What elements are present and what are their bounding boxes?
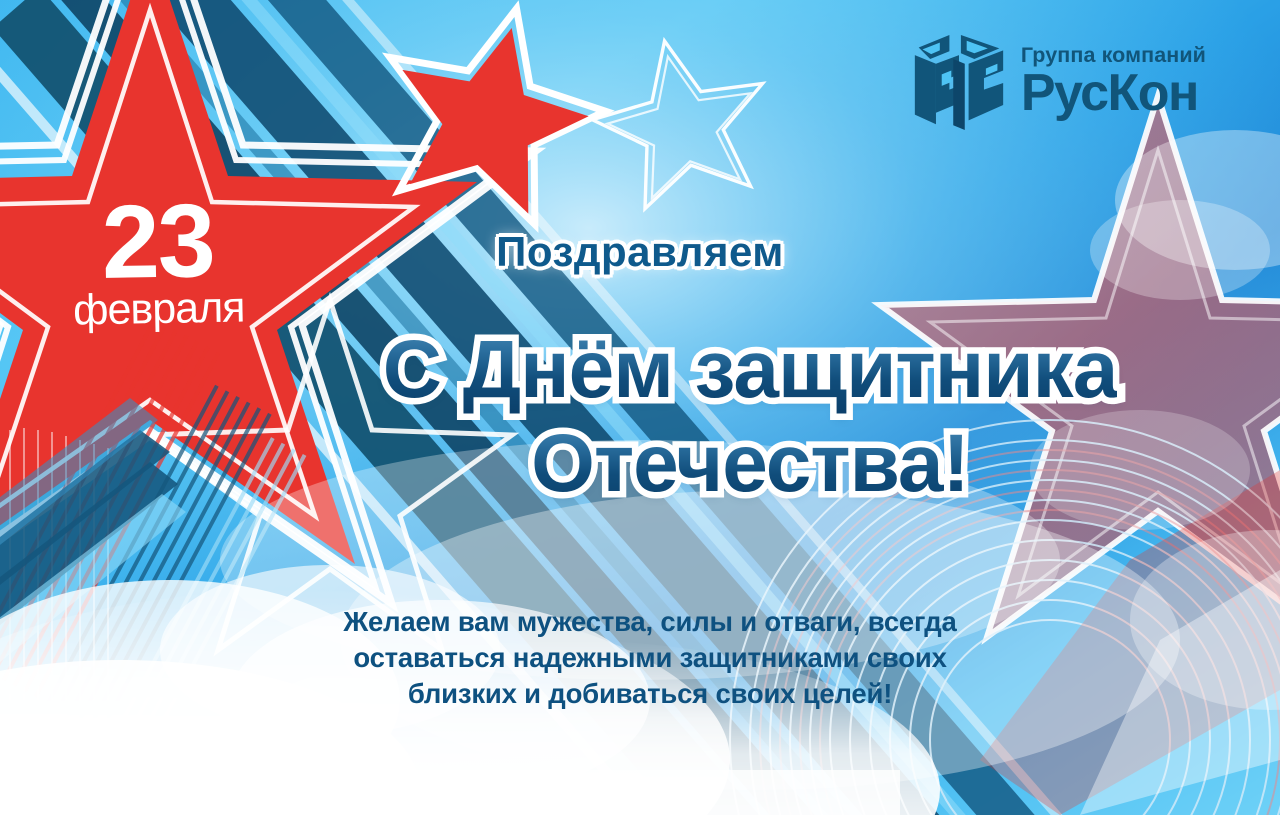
wish-line-2: оставаться надежными защитниками своих — [330, 640, 970, 676]
wish-text: Желаем вам мужества, силы и отваги, всег… — [330, 604, 970, 711]
brand-wordmark: Группа компаний РусКон — [1021, 45, 1206, 119]
greeting-card: 23 февраля Групп — [0, 0, 1280, 815]
wish-line-1: Желаем вам мужества, силы и отваги, всег… — [330, 604, 970, 640]
brand-logo[interactable]: Группа компаний РусКон — [911, 32, 1206, 132]
wish-line-3: близких и добиваться своих целей! — [330, 676, 970, 712]
ruscon-cube-logo-icon — [911, 32, 1007, 132]
date-month: февраля — [58, 286, 259, 332]
brand-company-name: РусКон — [1021, 67, 1206, 119]
congratulation-word: Поздравляем — [0, 228, 1280, 276]
